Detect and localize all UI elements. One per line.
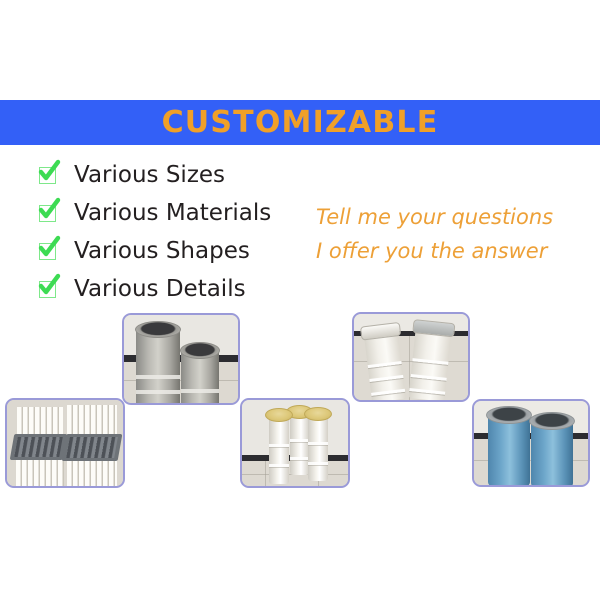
slogan-line-2: I offer you the answer xyxy=(316,234,586,268)
list-item: Various Details xyxy=(38,270,328,308)
feature-list: Various Sizes Various Materials Various … xyxy=(38,156,328,308)
check-square-icon xyxy=(38,240,60,262)
page-title: CUSTOMIZABLE xyxy=(162,105,439,140)
photo-panel-pleated-filters xyxy=(5,398,125,488)
slogan-line-1: Tell me your questions xyxy=(316,200,586,234)
promo-banner-canvas: CUSTOMIZABLE Various Sizes Various Mater… xyxy=(0,0,600,600)
photo-gray-cylindrical-filters xyxy=(122,313,240,405)
feature-label: Various Sizes xyxy=(74,162,225,188)
slogan-block: Tell me your questions I offer you the a… xyxy=(316,200,586,268)
list-item: Various Shapes xyxy=(38,232,328,270)
feature-label: Various Details xyxy=(74,276,246,302)
check-square-icon xyxy=(38,278,60,300)
headline-banner: CUSTOMIZABLE xyxy=(0,100,600,145)
feature-label: Various Materials xyxy=(74,200,271,226)
feature-label: Various Shapes xyxy=(74,238,250,264)
photo-tan-cap-tube-filters xyxy=(240,398,350,488)
photo-white-flat-oval-filters xyxy=(352,312,470,402)
check-square-icon xyxy=(38,164,60,186)
photo-blue-cylindrical-filters xyxy=(472,399,590,487)
check-square-icon xyxy=(38,202,60,224)
list-item: Various Materials xyxy=(38,194,328,232)
list-item: Various Sizes xyxy=(38,156,328,194)
